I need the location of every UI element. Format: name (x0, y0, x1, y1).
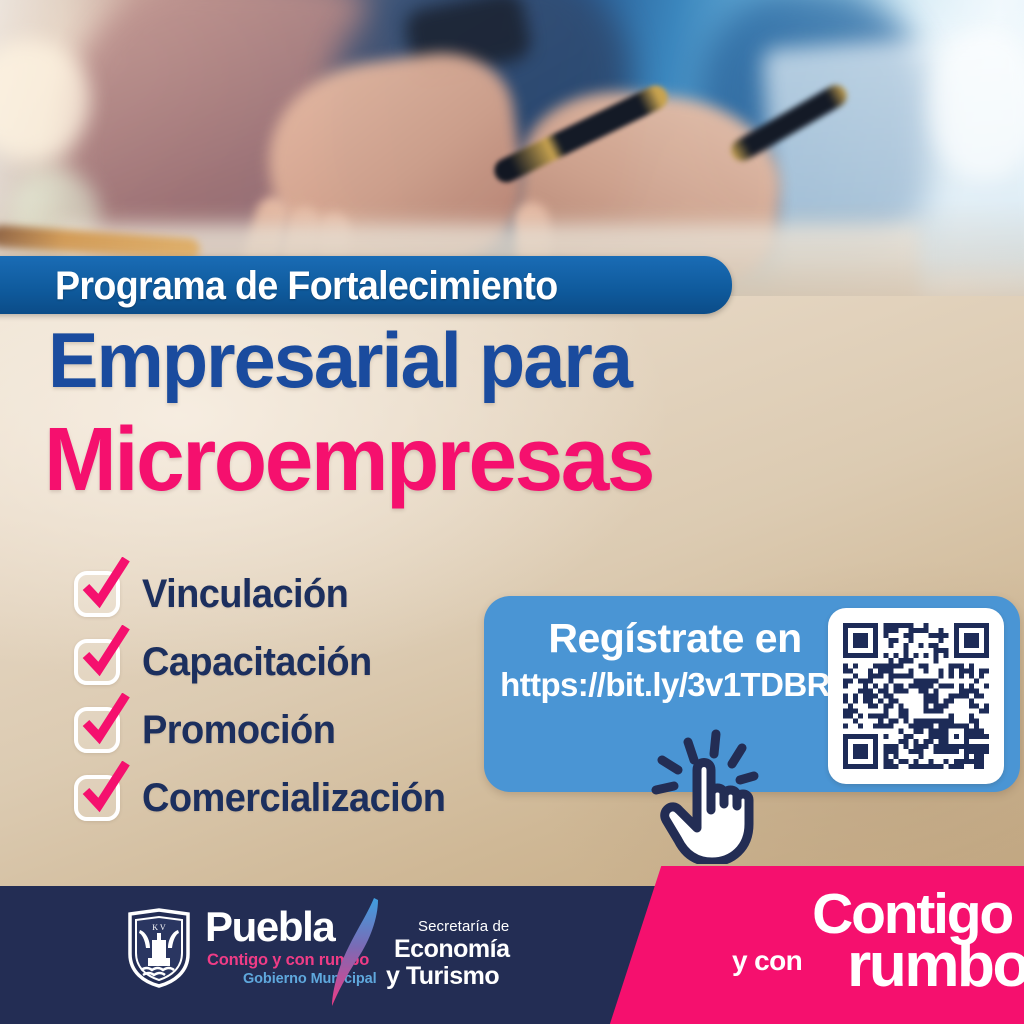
secretariat-line-1: Economía (386, 936, 546, 963)
hands-signing-document-photo (0, 0, 1024, 300)
swoosh-divider-icon (330, 896, 384, 1008)
checklist-item: Capacitación (74, 628, 474, 696)
checklist-item-label: Comercialización (142, 776, 445, 821)
click-hand-cursor-icon (648, 724, 798, 864)
checklist-item-label: Capacitación (142, 640, 372, 685)
checkbox-icon (74, 571, 120, 617)
benefits-checklist: Vinculación Capacitación Promoción (74, 560, 474, 832)
secretariat-line-2: y Turismo (386, 963, 546, 990)
corner-badge-small: y con (732, 946, 802, 976)
check-icon (76, 557, 134, 615)
checklist-item-label: Vinculación (142, 572, 348, 617)
checklist-item: Vinculación (74, 560, 474, 628)
secretariat-kicker: Secretaría de (386, 918, 546, 936)
register-url[interactable]: https://bit.ly/3v1TDBR (498, 666, 832, 704)
svg-text:K V: K V (152, 923, 166, 932)
qr-code-card[interactable] (828, 608, 1004, 784)
checkbox-icon (74, 775, 120, 821)
check-icon (76, 693, 134, 751)
check-icon (76, 625, 134, 683)
puebla-city-name: Puebla (205, 905, 334, 949)
qr-code-icon[interactable] (843, 623, 989, 769)
checklist-item: Promoción (74, 696, 474, 764)
puebla-coat-of-arms-icon: K V (126, 908, 192, 988)
headline-line-2: Empresarial para (48, 318, 631, 402)
checkbox-icon (74, 639, 120, 685)
promotional-poster: Programa de Fortalecimiento Empresarial … (0, 0, 1024, 1024)
checklist-item: Comercialización (74, 764, 474, 832)
corner-badge: Contigo y con rumbo (710, 884, 1024, 1024)
corner-badge-line-2: rumbo (847, 934, 1024, 998)
headline-line-3: Microempresas (44, 412, 653, 508)
checkbox-icon (74, 707, 120, 753)
headline-kicker: Programa de Fortalecimiento (55, 261, 713, 311)
secretariat-block: Secretaría de Economía y Turismo (386, 918, 546, 990)
check-icon (76, 761, 134, 819)
register-title: Regístrate en (520, 615, 830, 662)
checklist-item-label: Promoción (142, 708, 335, 753)
